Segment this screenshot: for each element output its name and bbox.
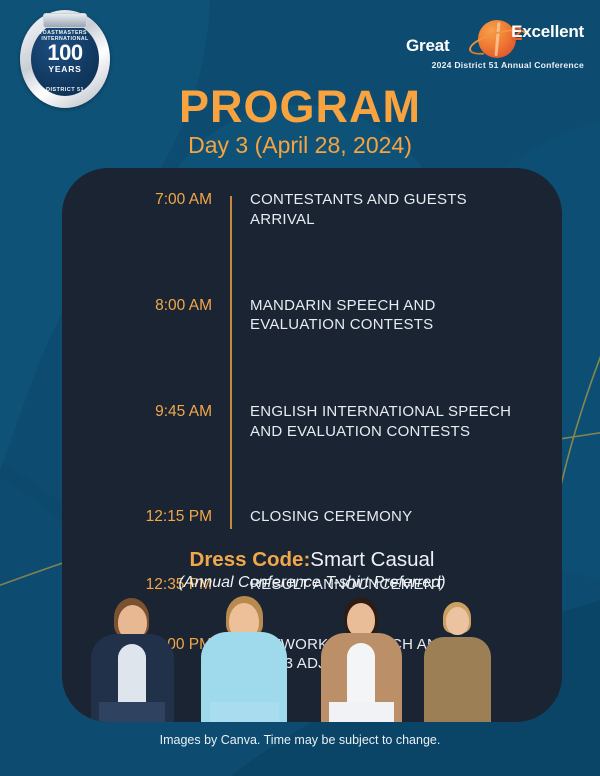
great-to-excellent-logo: Great 2 Excellent 2024 District 51 Annua…	[406, 22, 584, 70]
person-lower	[430, 702, 484, 722]
dress-code-block: Dress Code:Smart Casual (Annual Conferen…	[62, 548, 562, 592]
person-photo-woman-tan-blazer	[314, 595, 408, 722]
schedule-row-title: CLOSING CEREMONY	[230, 507, 412, 527]
schedule-row-title: MANDARIN SPEECH AND EVALUATION CONTESTS	[230, 296, 436, 336]
schedule-row: 7:00 AMCONTESTANTS AND GUESTS ARRIVAL	[62, 190, 562, 230]
person-face	[446, 607, 469, 635]
person-face	[347, 603, 375, 637]
person-lower	[329, 702, 394, 722]
logo-word-excellent: Excellent	[511, 22, 584, 42]
schedule-row: 8:00 AMMANDARIN SPEECH AND EVALUATION CO…	[62, 296, 562, 336]
badge-years-number: 100	[47, 42, 82, 64]
person-lower	[210, 702, 279, 722]
schedule-row-time: 12:15 PM	[62, 507, 230, 528]
schedule-row-title: ENGLISH INTERNATIONAL SPEECH AND EVALUAT…	[230, 402, 511, 442]
badge-arc-top-text: TOASTMASTERS · INTERNATIONAL	[20, 30, 110, 42]
badge-arc-bottom-text: DISTRICT 51	[20, 87, 110, 93]
dress-code-label: Dress Code:	[190, 548, 311, 571]
schedule-row: 9:45 AMENGLISH INTERNATIONAL SPEECH AND …	[62, 402, 562, 442]
logo-word-great: Great	[406, 36, 449, 56]
schedule-row-time: 9:45 AM	[62, 402, 230, 423]
person-photo-man-light-blue-polo	[194, 594, 294, 722]
badge-top-plate	[43, 13, 87, 28]
program-card: 7:00 AMCONTESTANTS AND GUESTS ARRIVAL8:0…	[62, 168, 562, 722]
dress-code-value: Smart Casual	[310, 548, 434, 571]
people-photo-row	[62, 592, 562, 722]
poster-header: 100 YEARS TOASTMASTERS · INTERNATIONAL D…	[0, 0, 600, 168]
schedule-row-time: 8:00 AM	[62, 296, 230, 317]
badge-years-label: YEARS	[48, 64, 81, 76]
schedule-row-time: 7:00 AM	[62, 190, 230, 211]
page-subtitle: Day 3 (April 28, 2024)	[0, 133, 600, 158]
schedule-row-title: CONTESTANTS AND GUESTS ARRIVAL	[230, 190, 467, 230]
logo-subtitle: 2024 District 51 Annual Conference	[406, 60, 584, 70]
schedule-row: 12:15 PMCLOSING CEREMONY	[62, 507, 562, 528]
footer-note: Images by Canva. Time may be subject to …	[0, 733, 600, 747]
person-photo-man-navy-blazer	[84, 596, 180, 722]
person-photo-woman-patterned-dress	[418, 600, 496, 722]
person-lower	[99, 702, 165, 722]
dress-code-note: (Annual Conference T-shirt Preferred)	[62, 574, 562, 592]
